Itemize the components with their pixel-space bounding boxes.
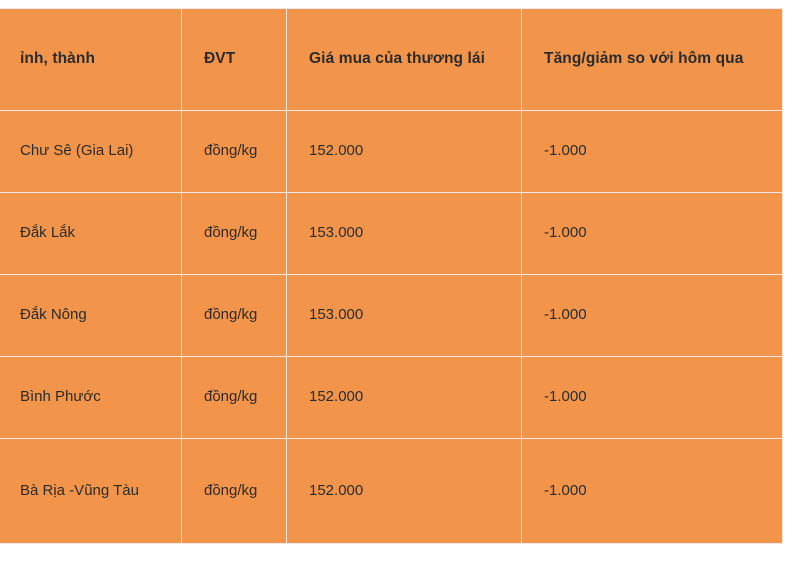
cell-unit: đồng/kg <box>182 439 287 544</box>
cell-province: Bình Phước <box>0 357 182 439</box>
cell-province: Đắk Nông <box>0 275 182 357</box>
column-header-change: Tăng/giảm so với hôm qua <box>522 9 783 111</box>
cell-unit: đồng/kg <box>182 193 287 275</box>
cell-change: -1.000 <box>522 357 783 439</box>
table-row: Bà Rịa -Vũng Tàu đồng/kg 152.000 -1.000 <box>0 439 783 544</box>
cell-unit: đồng/kg <box>182 357 287 439</box>
table-row: Bình Phước đồng/kg 152.000 -1.000 <box>0 357 783 439</box>
cell-change: -1.000 <box>522 111 783 193</box>
cell-buy-price: 153.000 <box>287 193 522 275</box>
table-body: Chư Sê (Gia Lai) đồng/kg 152.000 -1.000 … <box>0 111 783 544</box>
cell-buy-price: 153.000 <box>287 275 522 357</box>
cell-province: Bà Rịa -Vũng Tàu <box>0 439 182 544</box>
cell-unit: đồng/kg <box>182 111 287 193</box>
column-header-unit: ĐVT <box>182 9 287 111</box>
cell-change: -1.000 <box>522 275 783 357</box>
cell-change: -1.000 <box>522 439 783 544</box>
cell-province: Chư Sê (Gia Lai) <box>0 111 182 193</box>
table-row: Đắk Lắk đồng/kg 153.000 -1.000 <box>0 193 783 275</box>
cell-change: -1.000 <box>522 193 783 275</box>
table-row: Chư Sê (Gia Lai) đồng/kg 152.000 -1.000 <box>0 111 783 193</box>
page-root: ỉnh, thành ĐVT Giá mua của thương lái Tă… <box>0 0 789 565</box>
column-header-province: ỉnh, thành <box>0 9 182 111</box>
coffee-price-table: ỉnh, thành ĐVT Giá mua của thương lái Tă… <box>0 8 783 544</box>
cell-buy-price: 152.000 <box>287 357 522 439</box>
cell-province: Đắk Lắk <box>0 193 182 275</box>
table-header: ỉnh, thành ĐVT Giá mua của thương lái Tă… <box>0 9 783 111</box>
column-header-buy-price: Giá mua của thương lái <box>287 9 522 111</box>
table-header-row: ỉnh, thành ĐVT Giá mua của thương lái Tă… <box>0 9 783 111</box>
table-row: Đắk Nông đồng/kg 153.000 -1.000 <box>0 275 783 357</box>
cell-buy-price: 152.000 <box>287 111 522 193</box>
cell-unit: đồng/kg <box>182 275 287 357</box>
cell-buy-price: 152.000 <box>287 439 522 544</box>
